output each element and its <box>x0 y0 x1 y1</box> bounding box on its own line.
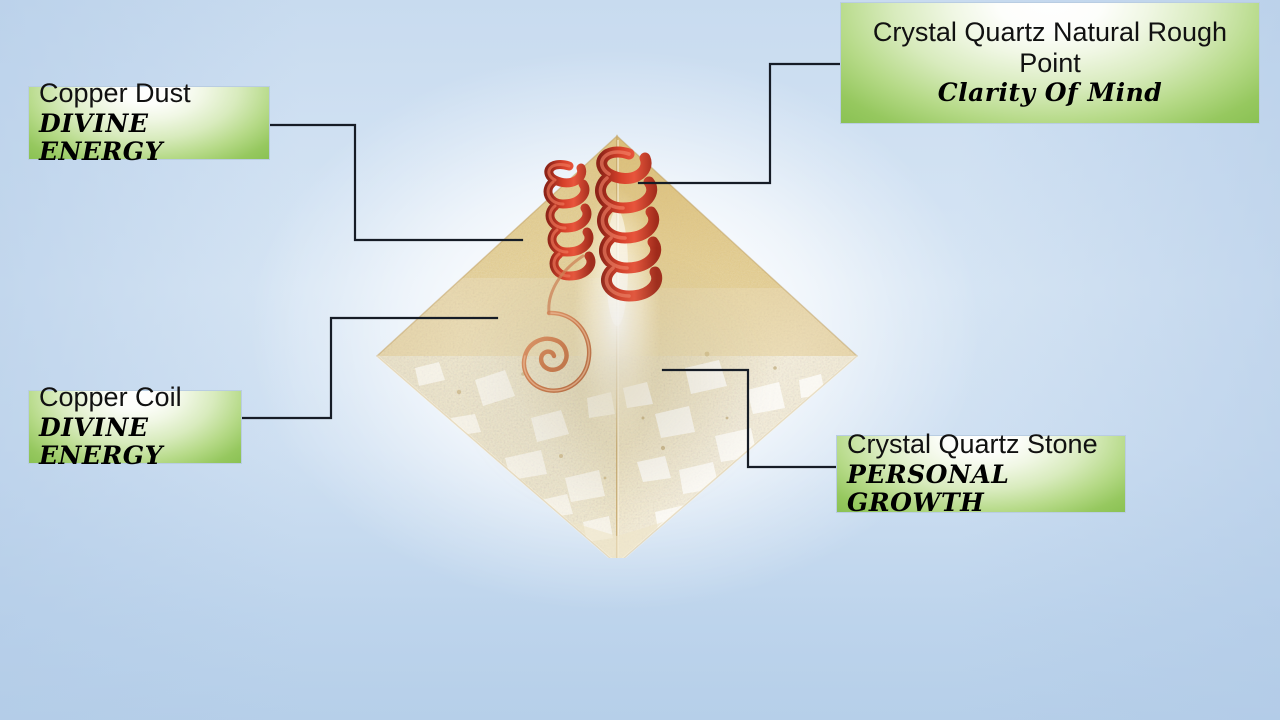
callout-subtitle: DIVINE ENERGY <box>39 110 259 166</box>
leader-line-quartz-point <box>639 64 841 183</box>
callout-crystal-quartz-stone[interactable]: Crystal Quartz Stone PERSONAL GROWTH <box>836 435 1126 513</box>
callout-title: Crystal Quartz Natural Rough Point <box>851 17 1249 77</box>
leader-line-quartz-stone <box>663 370 838 467</box>
callout-subtitle: PERSONAL GROWTH <box>847 461 1115 517</box>
callout-copper-coil[interactable]: Copper Coil DIVINE ENERGY <box>28 390 242 464</box>
callout-copper-dust[interactable]: Copper Dust DIVINE ENERGY <box>28 86 270 160</box>
leader-line-copper-coil <box>242 318 497 418</box>
leader-line-copper-dust <box>268 125 522 240</box>
callout-subtitle: Clarity Of Mind <box>851 79 1249 107</box>
callout-subtitle: DIVINE ENERGY <box>39 414 231 470</box>
callout-title: Crystal Quartz Stone <box>847 429 1115 459</box>
callout-crystal-quartz-natural-rough-point[interactable]: Crystal Quartz Natural Rough Point Clari… <box>840 2 1260 124</box>
callout-title: Copper Dust <box>39 78 259 108</box>
infographic-canvas: Copper Dust DIVINE ENERGY Copper Coil DI… <box>0 0 1280 720</box>
callout-title: Copper Coil <box>39 382 231 412</box>
